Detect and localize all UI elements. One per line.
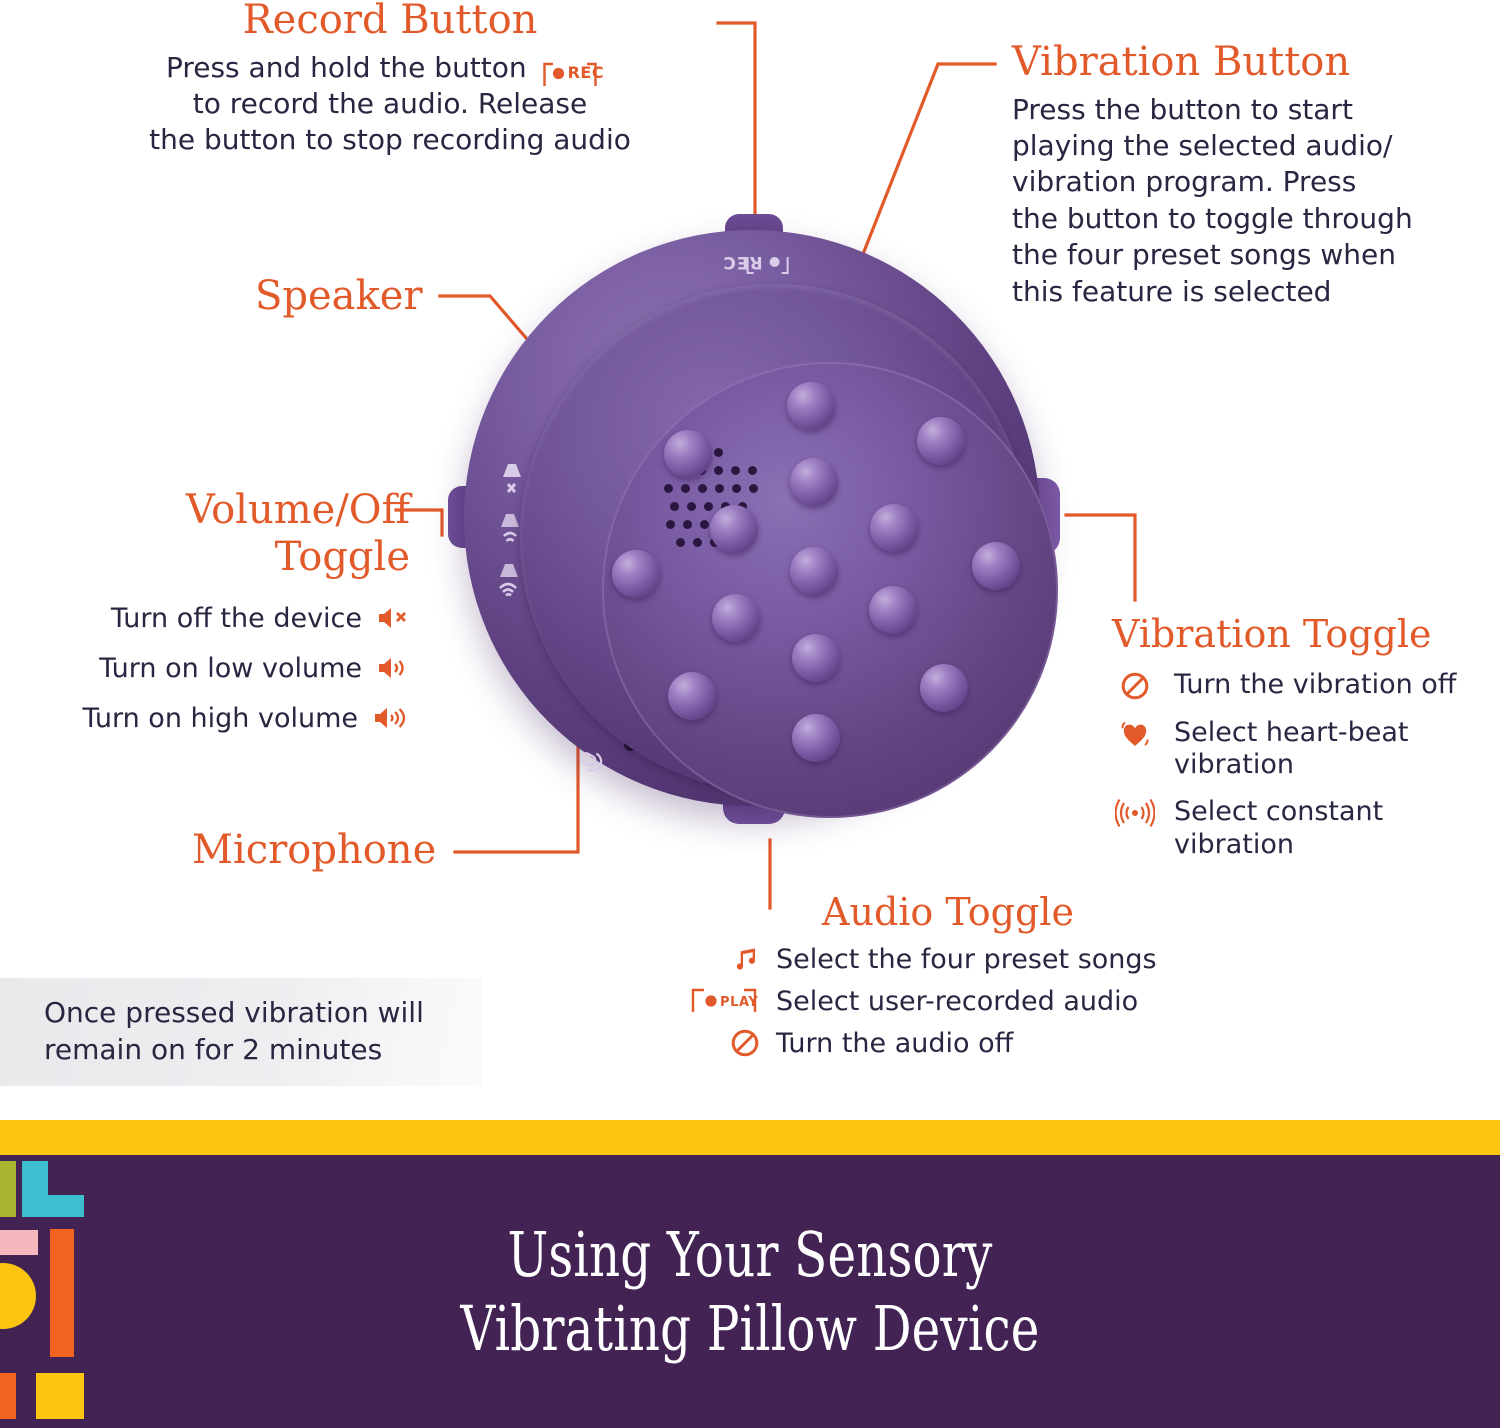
deco-teal-shape [22,1195,84,1217]
banner-title-line1: Using Your Sensory [507,1218,992,1291]
note-text: Once pressed vibration will remain on fo… [44,995,424,1069]
deco-orange-square [0,1373,16,1419]
device-face-plate[interactable] [602,362,1058,818]
vibration-toggle-label: Turn the vibration off [1174,669,1456,702]
volume-row-label: Turn on high volume [82,703,358,734]
vibration-toggle-row: Select constant vibration [1112,796,1500,862]
music-note-icon [688,946,760,972]
vibration-toggle-row: Select heart-beat vibration [1112,717,1500,783]
vibration-toggle-label: Select heart-beat vibration [1174,717,1408,783]
no-entry-icon [1112,669,1158,703]
rec-badge-icon: REC [542,62,615,85]
device-outer-shell: REC PLAY [464,230,1040,806]
tactile-bump [790,458,838,506]
speaker-mute-icon [497,462,527,496]
record-button-body: Press and hold the button REC to record … [60,50,720,159]
vb-line-3: vibration program. Press [1012,164,1482,200]
record-button-title: Record Button [60,0,720,42]
volume-title-line1: Volume/Off [20,487,410,534]
callout-vibration-toggle: Vibration Toggle Turn the vibration off [1112,615,1500,862]
vibration-button-title: Vibration Button [1012,42,1482,84]
record-line3: the button to stop recording audio [60,122,720,158]
speaker-mute-icon [376,604,410,632]
speaker-high-icon [372,704,410,732]
tactile-bump [869,586,917,634]
audio-toggle-title: Audio Toggle [688,893,1208,933]
volume-row-label: Turn on low volume [99,653,362,684]
volume-row: Turn on high volume [20,693,410,743]
tactile-bump [710,505,758,553]
vibration-toggle-title: Vibration Toggle [1112,615,1500,655]
volume-rows: Turn off the device Turn on low volume T… [20,593,410,743]
volume-row: Turn on low volume [20,643,410,693]
volume-title-line2: Toggle [20,534,410,581]
tactile-bump [920,664,968,712]
heart-beat-icon [1112,717,1158,751]
vibrating-pillow-device: REC PLAY [442,208,1062,880]
vb-line-6: this feature is selected [1012,274,1482,310]
audio-toggle-rows: Select the four preset songs PLAY Select… [688,944,1208,1059]
device-rec-marking: REC [722,252,781,272]
banner-yellow-stripe [0,1120,1500,1155]
audio-toggle-row: Turn the audio off [688,1028,1208,1059]
vt-line1: Select constant [1174,796,1383,827]
vibration-toggle-rows: Turn the vibration off Select heart-beat… [1112,669,1500,863]
banner-title: Using Your Sensory Vibrating Pillow Devi… [165,1155,1335,1428]
speaker-title: Speaker [255,276,423,318]
tactile-bump [790,547,838,595]
deco-yellow-circle [0,1263,36,1329]
callout-vibration-button: Vibration Button Press the button to sta… [1012,42,1482,310]
note-line2: remain on for 2 minutes [44,1032,424,1069]
vibration-duration-note: Once pressed vibration will remain on fo… [0,978,482,1086]
audio-toggle-label: Select user-recorded audio [776,986,1138,1017]
no-entry-icon [688,1028,760,1058]
callout-record-button: Record Button Press and hold the button … [60,0,720,159]
tactile-bump [787,382,835,430]
vb-line-4: the button to toggle through [1012,201,1482,237]
vt-line2: vibration [1174,829,1294,860]
audio-toggle-row: Select the four preset songs [688,944,1208,975]
device-rim [520,284,1028,792]
speaker-low-icon [376,654,410,682]
microphone-title: Microphone [192,830,436,872]
bottom-banner: Using Your Sensory Vibrating Pillow Devi… [0,1110,1500,1428]
record-line2: to record the audio. Release [60,86,720,122]
deco-pink-shape [0,1230,38,1255]
tactile-bump [972,542,1020,590]
volume-row-label: Turn off the device [111,603,362,634]
vt-line2: vibration [1174,749,1294,780]
audio-toggle-label: Select the four preset songs [776,944,1157,975]
rec-bracket-icon [746,256,790,274]
callout-microphone: Microphone [192,830,436,872]
tactile-bump [612,550,660,598]
tactile-bump [870,504,918,552]
vibration-button-body: Press the button to start playing the se… [1012,92,1482,310]
deco-yellow-square [36,1373,84,1419]
tactile-bump [792,634,840,682]
banner-title-line2: Vibrating Pillow Device [460,1292,1039,1365]
audio-toggle-row: PLAY Select user-recorded audio [688,986,1208,1017]
tactile-bump [917,417,965,465]
note-line1: Once pressed vibration will [44,995,424,1032]
vb-line-1: Press the button to start [1012,92,1482,128]
vibration-toggle-label: Select constant vibration [1174,796,1383,862]
volume-row: Turn off the device [20,593,410,643]
callout-volume-off-toggle: Volume/Off Toggle Turn off the device Tu… [20,487,410,743]
play-badge-icon: PLAY [688,987,760,1015]
deco-orange-bar [50,1229,74,1357]
callout-speaker: Speaker [255,276,423,318]
tactile-bump [792,714,840,762]
banner-decorative-shapes [0,1155,100,1428]
infographic-root: REC PLAY [0,0,1500,1428]
vb-line-2: playing the selected audio/ [1012,128,1482,164]
tactile-bump [712,594,760,642]
vt-line1: Select heart-beat [1174,717,1408,748]
vb-line-5: the four preset songs when [1012,237,1482,273]
constant-vibration-icon [1112,796,1158,830]
tactile-bump [664,430,712,478]
record-line1: Press and hold the button [166,51,527,84]
deco-olive-shape [0,1161,16,1217]
record-dot-icon [552,67,565,80]
microphone-icon [570,739,616,785]
svg-text:PLAY: PLAY [720,995,758,1010]
tactile-bump [668,672,716,720]
callout-audio-toggle: Audio Toggle Select the four preset song… [688,893,1208,1059]
audio-toggle-label: Turn the audio off [776,1028,1013,1059]
vibration-toggle-row: Turn the vibration off [1112,669,1500,703]
